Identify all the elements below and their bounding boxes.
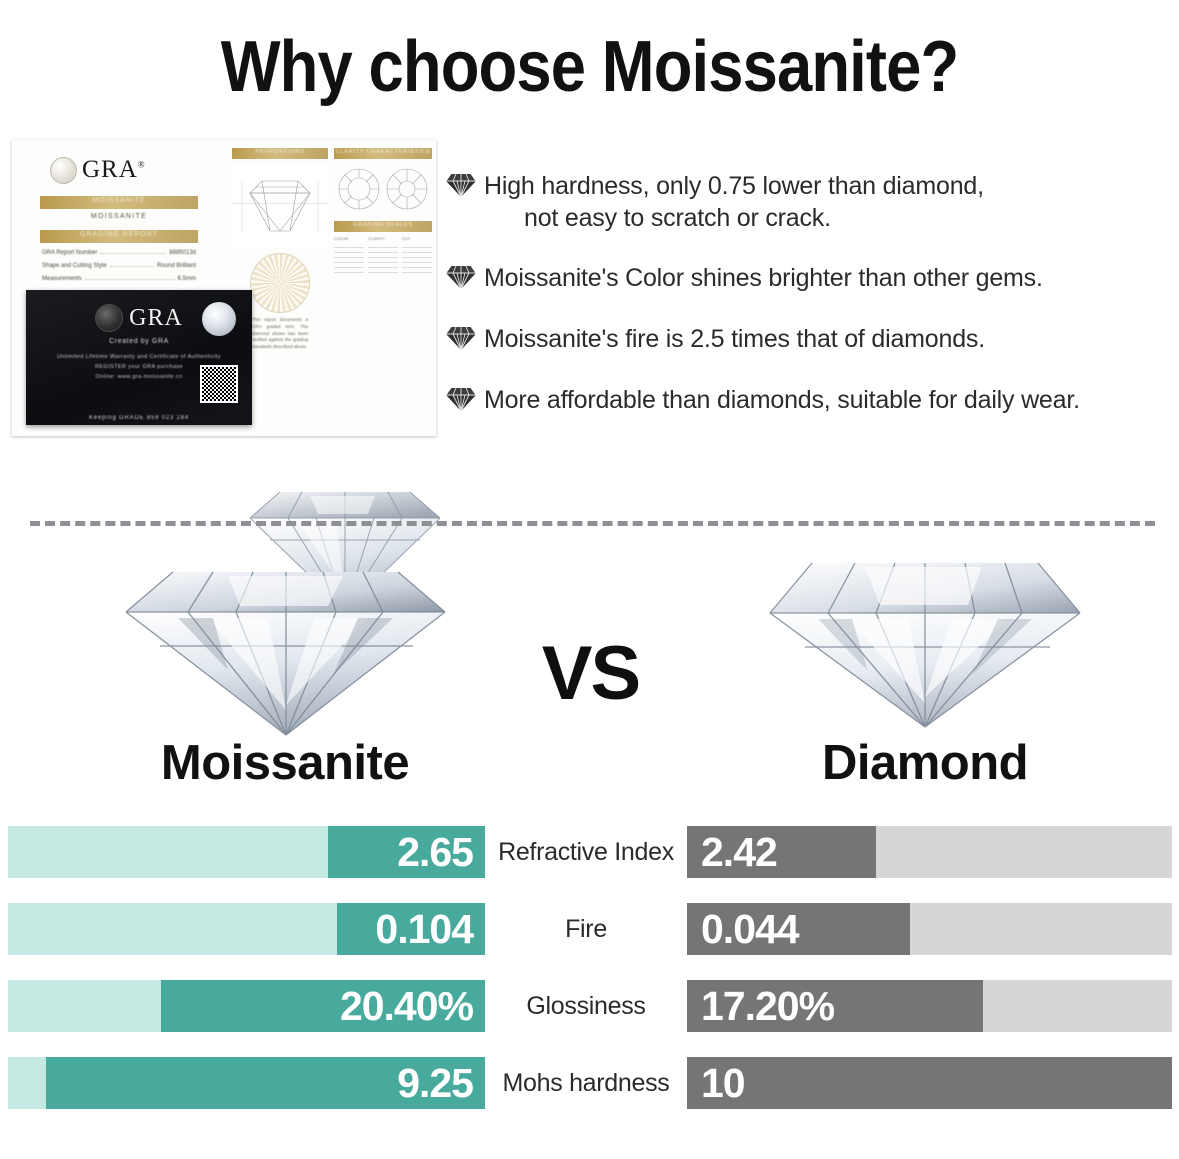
row-value: 8885013d (169, 250, 196, 256)
row-dots (85, 273, 175, 280)
card-wordmark: GRA (129, 305, 183, 332)
certificate-banner-moissanite: MOISSANITE (40, 196, 198, 209)
bar-row-fire: 0.104 Fire 0.044 (0, 897, 1179, 961)
diamond-bar-track: 17.20% (687, 980, 1172, 1032)
moissanite-bar-value: 0.104 (375, 909, 473, 950)
diamond-icon-svg (444, 386, 478, 412)
certificate-image: GRA® MOISSANITE MOISSANITE GRADING REPOR… (12, 140, 436, 480)
list-item-text: High hardness, only 0.75 lower than diam… (484, 170, 984, 234)
bar-category-label: Fire (487, 903, 685, 955)
panel-header-label: PROPORTIONS (232, 149, 328, 155)
gra-seal-icon (50, 157, 77, 184)
bar-category-label: Refractive Index (487, 826, 685, 878)
moissanite-bar-track: 0.104 (8, 903, 485, 955)
qr-code-icon (200, 365, 238, 403)
panel-header: GRADING SCALES (334, 221, 432, 232)
diamond-icon (444, 325, 478, 351)
list-item: High hardness, only 0.75 lower than diam… (444, 170, 1179, 234)
diamond-gem-image (760, 545, 1090, 735)
diamond-icon (444, 172, 478, 198)
list-item-text: Moissanite's fire is 2.5 times that of d… (484, 323, 985, 355)
report-row: Shape and Cutting Style Round Brilliant (42, 260, 196, 269)
proportions-diagram (232, 163, 328, 247)
list-item-line-2: not easy to scratch or crack. (524, 202, 984, 234)
diamond-bar-value: 17.20% (701, 986, 834, 1027)
card-gem-icon (202, 302, 236, 336)
bar-row-glossiness: 20.40% Glossiness 17.20% (0, 974, 1179, 1038)
list-item: Moissanite's Color shines brighter than … (444, 262, 1179, 294)
scale-column: CLARITY (368, 236, 398, 273)
banner-label: GRADING REPORT (40, 231, 198, 238)
diamond-bar-value: 2.42 (701, 832, 777, 873)
list-item-text: Moissanite's Color shines brighter than … (484, 262, 1043, 294)
benefit-list: High hardness, only 0.75 lower than diam… (444, 170, 1179, 416)
list-item: More affordable than diamonds, suitable … (444, 384, 1179, 416)
row-dots (100, 247, 166, 254)
diamond-bar-value: 0.044 (701, 909, 799, 950)
card-subtitle: Created by GRA (26, 338, 252, 345)
clarity-panel: CLARITY CHARACTERISTICS (334, 148, 432, 355)
gra-black-card: GRA Created by GRA Unlimited Lifetime Wa… (26, 290, 252, 425)
scale-column-header: CLARITY (368, 236, 398, 241)
scale-column: CUT (402, 236, 432, 273)
moissanite-bar-track: 9.25 (8, 1057, 485, 1109)
row-value: Round Brilliant (157, 263, 196, 269)
diamond-label: Diamond (690, 735, 1160, 791)
moissanite-bar-track: 2.65 (8, 826, 485, 878)
panel-header-label: GRADING SCALES (334, 222, 432, 228)
row-value: 6.5mm (178, 276, 196, 282)
section-divider (30, 521, 1155, 526)
moissanite-gem-image (118, 550, 453, 740)
comparison-bar-chart: 2.65 Refractive Index 2.42 0.104 Fire 0.… (0, 820, 1179, 1128)
diamond-bar-value: 10 (701, 1063, 745, 1104)
comparison-header: VS (0, 545, 1179, 805)
scale-column-header: COLOR (334, 236, 364, 241)
row-dots (110, 260, 154, 267)
scale-column: COLOR (334, 236, 364, 273)
diamond-bar-fill: 2.42 (687, 826, 876, 878)
gra-logo: GRA® (50, 156, 216, 184)
diamond-gem-svg (760, 545, 1090, 735)
gem-proportions-svg (232, 163, 328, 243)
report-row: GRA Report Number 8885013d (42, 247, 196, 256)
list-item-text: More affordable than diamonds, suitable … (484, 384, 1080, 416)
diamond-bar-track: 2.42 (687, 826, 1172, 878)
card-line-1: Unlimited Lifetime Warranty and Certific… (44, 352, 234, 362)
moissanite-bar-value: 9.25 (397, 1063, 473, 1104)
moissanite-gem-svg (118, 550, 453, 740)
panel-header: CLARITY CHARACTERISTICS (334, 148, 432, 159)
scale-column-header: CUT (402, 236, 432, 241)
gem-facet-illustration (250, 253, 310, 313)
row-label: Measurements (42, 276, 82, 282)
diamond-icon-svg (444, 264, 478, 290)
diamond-bar-fill: 10 (687, 1057, 1172, 1109)
moissanite-bar-fill: 2.65 (328, 826, 485, 878)
diamond-icon (444, 386, 478, 412)
diamond-icon-svg (444, 172, 478, 198)
clarity-plot-svg (334, 163, 432, 215)
report-row: Measurements 6.5mm (42, 273, 196, 282)
clarity-diagrams (334, 163, 432, 215)
certificate-fineprint: This report documents a GRA graded item.… (252, 317, 308, 351)
bar-row-mohs-hardness: 9.25 Mohs hardness 10 (0, 1051, 1179, 1115)
moissanite-bar-fill: 9.25 (46, 1057, 485, 1109)
moissanite-bar-track: 20.40% (8, 980, 485, 1032)
moissanite-bar-fill: 0.104 (337, 903, 485, 955)
panel-header: PROPORTIONS (232, 148, 328, 159)
card-seal-icon (95, 304, 123, 332)
grading-scales: COLOR CLARITY CUT (334, 236, 432, 273)
row-label: Shape and Cutting Style (42, 263, 107, 269)
list-item-line-1: High hardness, only 0.75 lower than diam… (484, 172, 984, 200)
bar-row-refractive-index: 2.65 Refractive Index 2.42 (0, 820, 1179, 884)
banner-label: MOISSANITE (40, 197, 198, 204)
report-rows: GRA Report Number 8885013d Shape and Cut… (42, 247, 196, 282)
row-label: GRA Report Number (42, 250, 97, 256)
card-footer: Keeping GRADE 859 023 284 (26, 415, 252, 421)
certificate-right-column: PROPORTIONS (226, 140, 436, 436)
diamond-bar-track: 0.044 (687, 903, 1172, 955)
diamond-bar-fill: 0.044 (687, 903, 910, 955)
moissanite-bar-value: 2.65 (397, 832, 473, 873)
panel-header-label: CLARITY CHARACTERISTICS (334, 149, 432, 155)
diamond-icon (444, 264, 478, 290)
moissanite-label: Moissanite (60, 735, 510, 791)
gra-wordmark: GRA® (82, 156, 146, 184)
diamond-bar-fill: 17.20% (687, 980, 983, 1032)
list-item: Moissanite's fire is 2.5 times that of d… (444, 323, 1179, 355)
diamond-icon-svg (444, 325, 478, 351)
moissanite-bar-value: 20.40% (340, 986, 473, 1027)
certificate-subtitle: MOISSANITE (22, 213, 216, 220)
bar-category-label: Mohs hardness (487, 1057, 685, 1109)
certificate-banner-report: GRADING REPORT (40, 230, 198, 243)
vs-label: VS (508, 630, 673, 717)
page-title: Why choose Moissanite? (71, 26, 1109, 108)
moissanite-bar-fill: 20.40% (161, 980, 485, 1032)
bar-category-label: Glossiness (487, 980, 685, 1032)
diamond-bar-track: 10 (687, 1057, 1172, 1109)
